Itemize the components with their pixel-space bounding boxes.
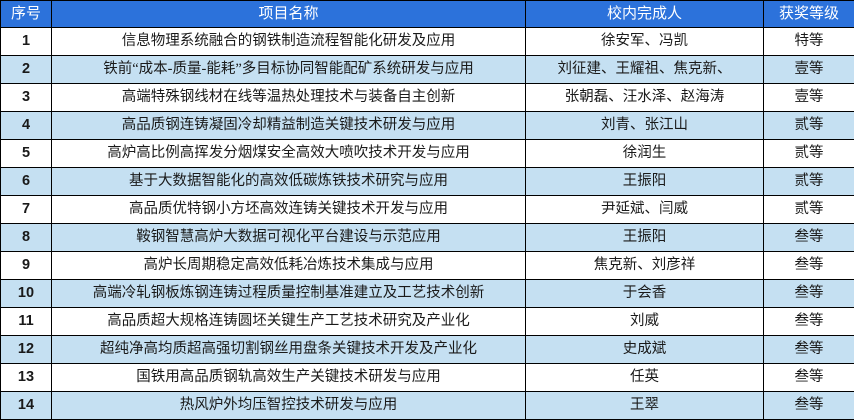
- cell-participants: 王振阳: [526, 168, 764, 196]
- cell-award-grade: 叁等: [764, 224, 854, 252]
- cell-award-grade: 壹等: [764, 84, 854, 112]
- cell-project-name: 热风炉外均压智控技术研发与应用: [52, 392, 526, 420]
- cell-project-name: 国铁用高品质钢轨高效生产关键技术研发与应用: [52, 364, 526, 392]
- table-row[interactable]: 11高品质超大规格连铸圆坯关键生产工艺技术研究及产业化刘威叁等: [1, 308, 854, 336]
- table-row[interactable]: 8鞍钢智慧高炉大数据可视化平台建设与示范应用王振阳叁等: [1, 224, 854, 252]
- cell-seq: 1: [1, 28, 52, 56]
- cell-seq: 6: [1, 168, 52, 196]
- table-row[interactable]: 2铁前“成本-质量-能耗”多目标协同智能配矿系统研发与应用刘征建、王耀祖、焦克新…: [1, 56, 854, 84]
- cell-project-name: 高炉长周期稳定高效低耗冶炼技术集成与应用: [52, 252, 526, 280]
- column-header-seq[interactable]: 序号: [1, 1, 52, 28]
- cell-award-grade: 叁等: [764, 280, 854, 308]
- cell-participants: 王翠: [526, 392, 764, 420]
- cell-seq: 8: [1, 224, 52, 252]
- cell-project-name: 铁前“成本-质量-能耗”多目标协同智能配矿系统研发与应用: [52, 56, 526, 84]
- table-row[interactable]: 7高品质优特钢小方坯高效连铸关键技术开发与应用尹延斌、闫威贰等: [1, 196, 854, 224]
- cell-award-grade: 贰等: [764, 140, 854, 168]
- cell-award-grade: 贰等: [764, 112, 854, 140]
- table-row[interactable]: 12超纯净高均质超高强切割钢丝用盘条关键技术开发及产业化史成斌叁等: [1, 336, 854, 364]
- table-row[interactable]: 14热风炉外均压智控技术研发与应用王翠叁等: [1, 392, 854, 420]
- cell-award-grade: 叁等: [764, 336, 854, 364]
- cell-participants: 徐安军、冯凯: [526, 28, 764, 56]
- cell-project-name: 基于大数据智能化的高效低碳炼铁技术研究与应用: [52, 168, 526, 196]
- award-table-container: 序号 项目名称 校内完成人 获奖等级 1信息物理系统融合的钢铁制造流程智能化研发…: [0, 0, 854, 420]
- cell-participants: 尹延斌、闫威: [526, 196, 764, 224]
- cell-participants: 刘青、张江山: [526, 112, 764, 140]
- cell-participants: 王振阳: [526, 224, 764, 252]
- cell-award-grade: 叁等: [764, 252, 854, 280]
- cell-project-name: 高炉高比例高挥发分烟煤安全高效大喷吹技术开发与应用: [52, 140, 526, 168]
- table-row[interactable]: 3高端特殊钢线材在线等温热处理技术与装备自主创新张朝磊、汪水泽、赵海涛壹等: [1, 84, 854, 112]
- cell-seq: 2: [1, 56, 52, 84]
- cell-award-grade: 叁等: [764, 364, 854, 392]
- cell-award-grade: 贰等: [764, 168, 854, 196]
- column-header-name[interactable]: 项目名称: [52, 1, 526, 28]
- cell-project-name: 超纯净高均质超高强切割钢丝用盘条关键技术开发及产业化: [52, 336, 526, 364]
- cell-participants: 刘征建、王耀祖、焦克新、: [526, 56, 764, 84]
- cell-project-name: 高品质超大规格连铸圆坯关键生产工艺技术研究及产业化: [52, 308, 526, 336]
- cell-seq: 11: [1, 308, 52, 336]
- cell-project-name: 鞍钢智慧高炉大数据可视化平台建设与示范应用: [52, 224, 526, 252]
- table-row[interactable]: 4高品质钢连铸凝固冷却精益制造关键技术研发与应用刘青、张江山贰等: [1, 112, 854, 140]
- cell-seq: 14: [1, 392, 52, 420]
- cell-award-grade: 叁等: [764, 308, 854, 336]
- cell-participants: 任英: [526, 364, 764, 392]
- cell-award-grade: 特等: [764, 28, 854, 56]
- cell-participants: 史成斌: [526, 336, 764, 364]
- cell-award-grade: 叁等: [764, 392, 854, 420]
- table-row[interactable]: 1信息物理系统融合的钢铁制造流程智能化研发及应用徐安军、冯凯特等: [1, 28, 854, 56]
- table-row[interactable]: 6基于大数据智能化的高效低碳炼铁技术研究与应用王振阳贰等: [1, 168, 854, 196]
- cell-project-name: 信息物理系统融合的钢铁制造流程智能化研发及应用: [52, 28, 526, 56]
- cell-award-grade: 壹等: [764, 56, 854, 84]
- table-row[interactable]: 13国铁用高品质钢轨高效生产关键技术研发与应用任英叁等: [1, 364, 854, 392]
- cell-participants: 徐润生: [526, 140, 764, 168]
- table-row[interactable]: 5高炉高比例高挥发分烟煤安全高效大喷吹技术开发与应用徐润生贰等: [1, 140, 854, 168]
- cell-seq: 12: [1, 336, 52, 364]
- cell-participants: 焦克新、刘彦祥: [526, 252, 764, 280]
- cell-seq: 7: [1, 196, 52, 224]
- table-header: 序号 项目名称 校内完成人 获奖等级: [1, 1, 854, 28]
- cell-seq: 4: [1, 112, 52, 140]
- column-header-grade[interactable]: 获奖等级: [764, 1, 854, 28]
- cell-participants: 刘威: [526, 308, 764, 336]
- cell-project-name: 高品质优特钢小方坯高效连铸关键技术开发与应用: [52, 196, 526, 224]
- cell-participants: 于会香: [526, 280, 764, 308]
- cell-seq: 9: [1, 252, 52, 280]
- table-header-row: 序号 项目名称 校内完成人 获奖等级: [1, 1, 854, 28]
- cell-seq: 5: [1, 140, 52, 168]
- column-header-ppl[interactable]: 校内完成人: [526, 1, 764, 28]
- cell-seq: 13: [1, 364, 52, 392]
- table-body: 1信息物理系统融合的钢铁制造流程智能化研发及应用徐安军、冯凯特等2铁前“成本-质…: [1, 28, 854, 420]
- cell-seq: 3: [1, 84, 52, 112]
- table-row[interactable]: 10高端冷轧钢板炼钢连铸过程质量控制基准建立及工艺技术创新于会香叁等: [1, 280, 854, 308]
- cell-project-name: 高端特殊钢线材在线等温热处理技术与装备自主创新: [52, 84, 526, 112]
- cell-project-name: 高品质钢连铸凝固冷却精益制造关键技术研发与应用: [52, 112, 526, 140]
- cell-participants: 张朝磊、汪水泽、赵海涛: [526, 84, 764, 112]
- cell-seq: 10: [1, 280, 52, 308]
- cell-project-name: 高端冷轧钢板炼钢连铸过程质量控制基准建立及工艺技术创新: [52, 280, 526, 308]
- award-table: 序号 项目名称 校内完成人 获奖等级 1信息物理系统融合的钢铁制造流程智能化研发…: [0, 0, 854, 420]
- cell-award-grade: 贰等: [764, 196, 854, 224]
- table-row[interactable]: 9高炉长周期稳定高效低耗冶炼技术集成与应用焦克新、刘彦祥叁等: [1, 252, 854, 280]
